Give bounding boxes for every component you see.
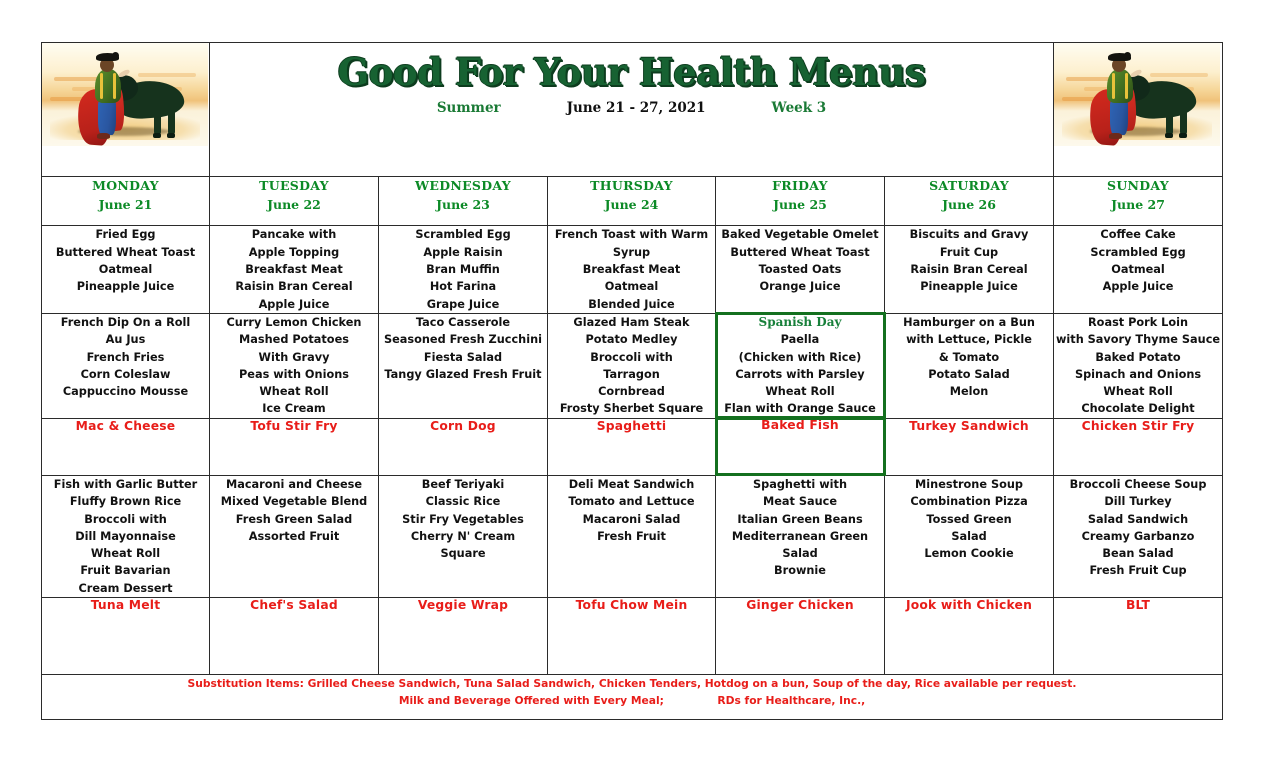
menu-item: Oatmeal [42,261,209,278]
menu-item: Scrambled Egg [379,226,547,243]
banner-title-cell: Good For Your Health Menus Summer June 2… [210,43,1054,177]
menu-item: Glazed Ham Steak [548,314,715,331]
menu-item: Spinach and Onions [1054,366,1222,383]
day-date: June 26 [885,196,1053,215]
menu-item: Peas with Onions [210,366,378,383]
day-date: June 21 [42,196,209,215]
day-date: June 27 [1054,196,1222,215]
menu-item: Carrots with Parsley [716,366,884,383]
dinner-alt-sunday: BLT [1054,598,1223,675]
provider-name: RDs for Healthcare, Inc., [717,694,865,707]
menu-item: Seasoned Fresh Zucchini [379,331,547,348]
matador-bullfight-illustration-left [42,43,208,146]
menu-item: Mashed Potatoes [210,331,378,348]
lunch-cell-saturday: Hamburger on a Bunwith Lettuce, Pickle& … [885,313,1054,418]
menu-item: With Gravy [210,349,378,366]
dinner-alternate-row: Tuna Melt Chef's Salad Veggie Wrap Tofu … [42,598,1223,675]
day-header-sunday: SUNDAY June 27 [1054,176,1223,226]
menu-item: Creamy Garbanzo [1054,528,1222,545]
lunch-alt-thursday: Spaghetti [548,418,716,475]
lunch-cell-monday: French Dip On a RollAu JusFrench FriesCo… [42,313,210,418]
substitution-footer: Substitution Items: Grilled Cheese Sandw… [42,675,1223,720]
breakfast-cell-sunday: Coffee CakeScrambled EggOatmealApple Jui… [1054,226,1223,313]
weekly-menu-table: Good For Your Health Menus Summer June 2… [41,42,1223,720]
day-name: SUNDAY [1054,177,1222,196]
menu-item: Buttered Wheat Toast [42,244,209,261]
menu-item: with Savory Thyme Sauce [1054,331,1222,348]
menu-item: Tossed Green [885,511,1053,528]
day-date: June 23 [379,196,547,215]
menu-item: Breakfast Meat [548,261,715,278]
breakfast-cell-friday: Baked Vegetable OmeletButtered Wheat Toa… [716,226,885,313]
menu-item: Wheat Roll [716,383,884,400]
menu-item: Fresh Fruit Cup [1054,562,1222,579]
day-header-thursday: THURSDAY June 24 [548,176,716,226]
art-right-cell [1054,43,1223,177]
menu-item: Cappuccino Mousse [42,383,209,400]
menu-item: Lemon Cookie [885,545,1053,562]
menu-item: Italian Green Beans [716,511,884,528]
menu-item: French Toast with Warm [548,226,715,243]
menu-item: Wheat Roll [1054,383,1222,400]
dinner-cell-saturday: Minestrone SoupCombination PizzaTossed G… [885,475,1054,597]
menu-item: Classic Rice [379,493,547,510]
menu-item: Mixed Vegetable Blend [210,493,378,510]
menu-item: Fish with Garlic Butter [42,476,209,493]
breakfast-cell-saturday: Biscuits and GravyFruit CupRaisin Bran C… [885,226,1054,313]
menu-item: Bran Muffin [379,261,547,278]
art-left-cell [42,43,210,177]
menu-item: Ice Cream [210,400,378,417]
lunch-row: French Dip On a RollAu JusFrench FriesCo… [42,313,1223,418]
menu-item: Deli Meat Sandwich [548,476,715,493]
menu-item: Potato Medley [548,331,715,348]
menu-item: Frosty Sherbet Square [548,400,715,417]
menu-item: Combination Pizza [885,493,1053,510]
day-date: June 25 [716,196,884,215]
menu-item: Hamburger on a Bun [885,314,1053,331]
menu-item: Cherry N' Cream [379,528,547,545]
menu-item: Melon [885,383,1053,400]
spanish-day-label: Spanish Day [716,314,884,331]
day-name: FRIDAY [716,177,884,196]
menu-item: Cornbread [548,383,715,400]
menu-item: Tangy Glazed Fresh Fruit [379,366,547,383]
breakfast-row: Fried EggButtered Wheat ToastOatmealPine… [42,226,1223,313]
lunch-alt-sunday: Chicken Stir Fry [1054,418,1223,475]
menu-item: Brownie [716,562,884,579]
menu-item: Apple Juice [1054,278,1222,295]
menu-item: Broccoli Cheese Soup [1054,476,1222,493]
day-name: SATURDAY [885,177,1053,196]
breakfast-cell-wednesday: Scrambled EggApple RaisinBran MuffinHot … [379,226,548,313]
menu-item: Au Jus [42,331,209,348]
dinner-cell-sunday: Broccoli Cheese SoupDill TurkeySalad San… [1054,475,1223,597]
dinner-cell-wednesday: Beef TeriyakiClassic RiceStir Fry Vegeta… [379,475,548,597]
menu-item: Salad [885,528,1053,545]
banner-subtitle: Summer June 21 - 27, 2021 Week 3 [210,102,1053,116]
dinner-alt-thursday: Tofu Chow Mein [548,598,716,675]
menu-item: Beef Teriyaki [379,476,547,493]
menu-item: Apple Topping [210,244,378,261]
menu-item: Cream Dessert [42,580,209,597]
menu-item: Meat Sauce [716,493,884,510]
dinner-cell-thursday: Deli Meat SandwichTomato and LettuceMaca… [548,475,716,597]
menu-item: Apple Raisin [379,244,547,261]
menu-item: Baked Vegetable Omelet [716,226,884,243]
lunch-alt-friday: Baked Fish [716,418,885,475]
menu-page: Good For Your Health Menus Summer June 2… [0,0,1280,777]
menu-item: Fresh Green Salad [210,511,378,528]
menu-item: Buttered Wheat Toast [716,244,884,261]
lunch-cell-sunday: Roast Pork Loinwith Savory Thyme SauceBa… [1054,313,1223,418]
footer-row: Substitution Items: Grilled Cheese Sandw… [42,675,1223,720]
dinner-cell-friday: Spaghetti withMeat SauceItalian Green Be… [716,475,885,597]
menu-item: Raisin Bran Cereal [210,278,378,295]
menu-item: Bean Salad [1054,545,1222,562]
menu-item: Fried Egg [42,226,209,243]
menu-item: Toasted Oats [716,261,884,278]
day-date: June 22 [210,196,378,215]
menu-item: Apple Juice [210,296,378,313]
day-name: WEDNESDAY [379,177,547,196]
dinner-alt-wednesday: Veggie Wrap [379,598,548,675]
menu-item: Fruit Cup [885,244,1053,261]
day-name: MONDAY [42,177,209,196]
dinner-alt-friday: Ginger Chicken [716,598,885,675]
menu-item: Pineapple Juice [42,278,209,295]
menu-item: Orange Juice [716,278,884,295]
menu-item: Wheat Roll [210,383,378,400]
banner-row: Good For Your Health Menus Summer June 2… [42,43,1223,177]
menu-item: Taco Casserole [379,314,547,331]
menu-item: Mediterranean Green [716,528,884,545]
menu-item: Macaroni and Cheese [210,476,378,493]
beverage-note: Milk and Beverage Offered with Every Mea… [399,694,664,707]
menu-item: Grape Juice [379,296,547,313]
day-header-wednesday: WEDNESDAY June 23 [379,176,548,226]
menu-item: Breakfast Meat [210,261,378,278]
menu-item: Tarragon [548,366,715,383]
menu-item: Assorted Fruit [210,528,378,545]
day-name: TUESDAY [210,177,378,196]
matador-bullfight-illustration-right [1054,43,1220,146]
menu-item: Salad Sandwich [1054,511,1222,528]
day-name: THURSDAY [548,177,715,196]
menu-item: Flan with Orange Sauce [716,400,884,417]
lunch-cell-wednesday: Taco CasseroleSeasoned Fresh ZucchiniFie… [379,313,548,418]
menu-item: & Tomato [885,349,1053,366]
day-header-row: MONDAY June 21 TUESDAY June 22 WEDNESDAY… [42,176,1223,226]
season-label: Summer [437,102,501,116]
menu-item: Baked Potato [1054,349,1222,366]
menu-item: Paella [716,331,884,348]
menu-item: Stir Fry Vegetables [379,511,547,528]
menu-item: Hot Farina [379,278,547,295]
menu-item: Raisin Bran Cereal [885,261,1053,278]
menu-item: French Dip On a Roll [42,314,209,331]
substitution-items-line: Substitution Items: Grilled Cheese Sandw… [42,675,1222,692]
dinner-alt-saturday: Jook with Chicken [885,598,1054,675]
menu-item: (Chicken with Rice) [716,349,884,366]
lunch-alternate-row: Mac & Cheese Tofu Stir Fry Corn Dog Spag… [42,418,1223,475]
lunch-alt-tuesday: Tofu Stir Fry [210,418,379,475]
menu-item: Pancake with [210,226,378,243]
dinner-alt-monday: Tuna Melt [42,598,210,675]
day-header-tuesday: TUESDAY June 22 [210,176,379,226]
menu-item: Fresh Fruit [548,528,715,545]
menu-item: Chocolate Delight [1054,400,1222,417]
dinner-cell-monday: Fish with Garlic ButterFluffy Brown Rice… [42,475,210,597]
menu-item: Coffee Cake [1054,226,1222,243]
menu-item: Corn Coleslaw [42,366,209,383]
menu-item: Dill Mayonnaise [42,528,209,545]
menu-item: Spaghetti with [716,476,884,493]
menu-item: Broccoli with [548,349,715,366]
menu-item: Minestrone Soup [885,476,1053,493]
menu-item: Biscuits and Gravy [885,226,1053,243]
dinner-row: Fish with Garlic ButterFluffy Brown Rice… [42,475,1223,597]
menu-item: Fluffy Brown Rice [42,493,209,510]
day-date: June 24 [548,196,715,215]
date-range-label: June 21 - 27, 2021 [567,102,706,116]
menu-item: Broccoli with [42,511,209,528]
menu-item: Curry Lemon Chicken [210,314,378,331]
menu-item: Macaroni Salad [548,511,715,528]
lunch-cell-tuesday: Curry Lemon ChickenMashed PotatoesWith G… [210,313,379,418]
menu-item: Pineapple Juice [885,278,1053,295]
breakfast-cell-tuesday: Pancake withApple ToppingBreakfast MeatR… [210,226,379,313]
day-header-monday: MONDAY June 21 [42,176,210,226]
breakfast-cell-monday: Fried EggButtered Wheat ToastOatmealPine… [42,226,210,313]
dinner-alt-tuesday: Chef's Salad [210,598,379,675]
lunch-items-friday: Paella(Chicken with Rice)Carrots with Pa… [716,331,884,417]
day-header-saturday: SATURDAY June 26 [885,176,1054,226]
menu-item: French Fries [42,349,209,366]
dinner-cell-tuesday: Macaroni and CheeseMixed Vegetable Blend… [210,475,379,597]
lunch-cell-friday-spanish-day: Spanish Day Paella(Chicken with Rice)Car… [716,313,885,418]
menu-item: Oatmeal [548,278,715,295]
menu-item: Scrambled Egg [1054,244,1222,261]
menu-item: Roast Pork Loin [1054,314,1222,331]
page-title: Good For Your Health Menus [210,54,1053,91]
menu-item: Fiesta Salad [379,349,547,366]
footer-second-line: Milk and Beverage Offered with Every Mea… [42,692,1222,709]
lunch-alt-monday: Mac & Cheese [42,418,210,475]
week-label: Week 3 [772,102,827,116]
menu-item: Salad [716,545,884,562]
menu-item: Square [379,545,547,562]
menu-item: Oatmeal [1054,261,1222,278]
menu-item: Fruit Bavarian [42,562,209,579]
menu-item: Dill Turkey [1054,493,1222,510]
lunch-alt-wednesday: Corn Dog [379,418,548,475]
day-header-friday: FRIDAY June 25 [716,176,885,226]
menu-item: Wheat Roll [42,545,209,562]
menu-item: Tomato and Lettuce [548,493,715,510]
lunch-alt-saturday: Turkey Sandwich [885,418,1054,475]
menu-item: Syrup [548,244,715,261]
menu-item: Blended Juice [548,296,715,313]
menu-item: with Lettuce, Pickle [885,331,1053,348]
lunch-cell-thursday: Glazed Ham SteakPotato MedleyBroccoli wi… [548,313,716,418]
menu-item: Potato Salad [885,366,1053,383]
breakfast-cell-thursday: French Toast with WarmSyrupBreakfast Mea… [548,226,716,313]
